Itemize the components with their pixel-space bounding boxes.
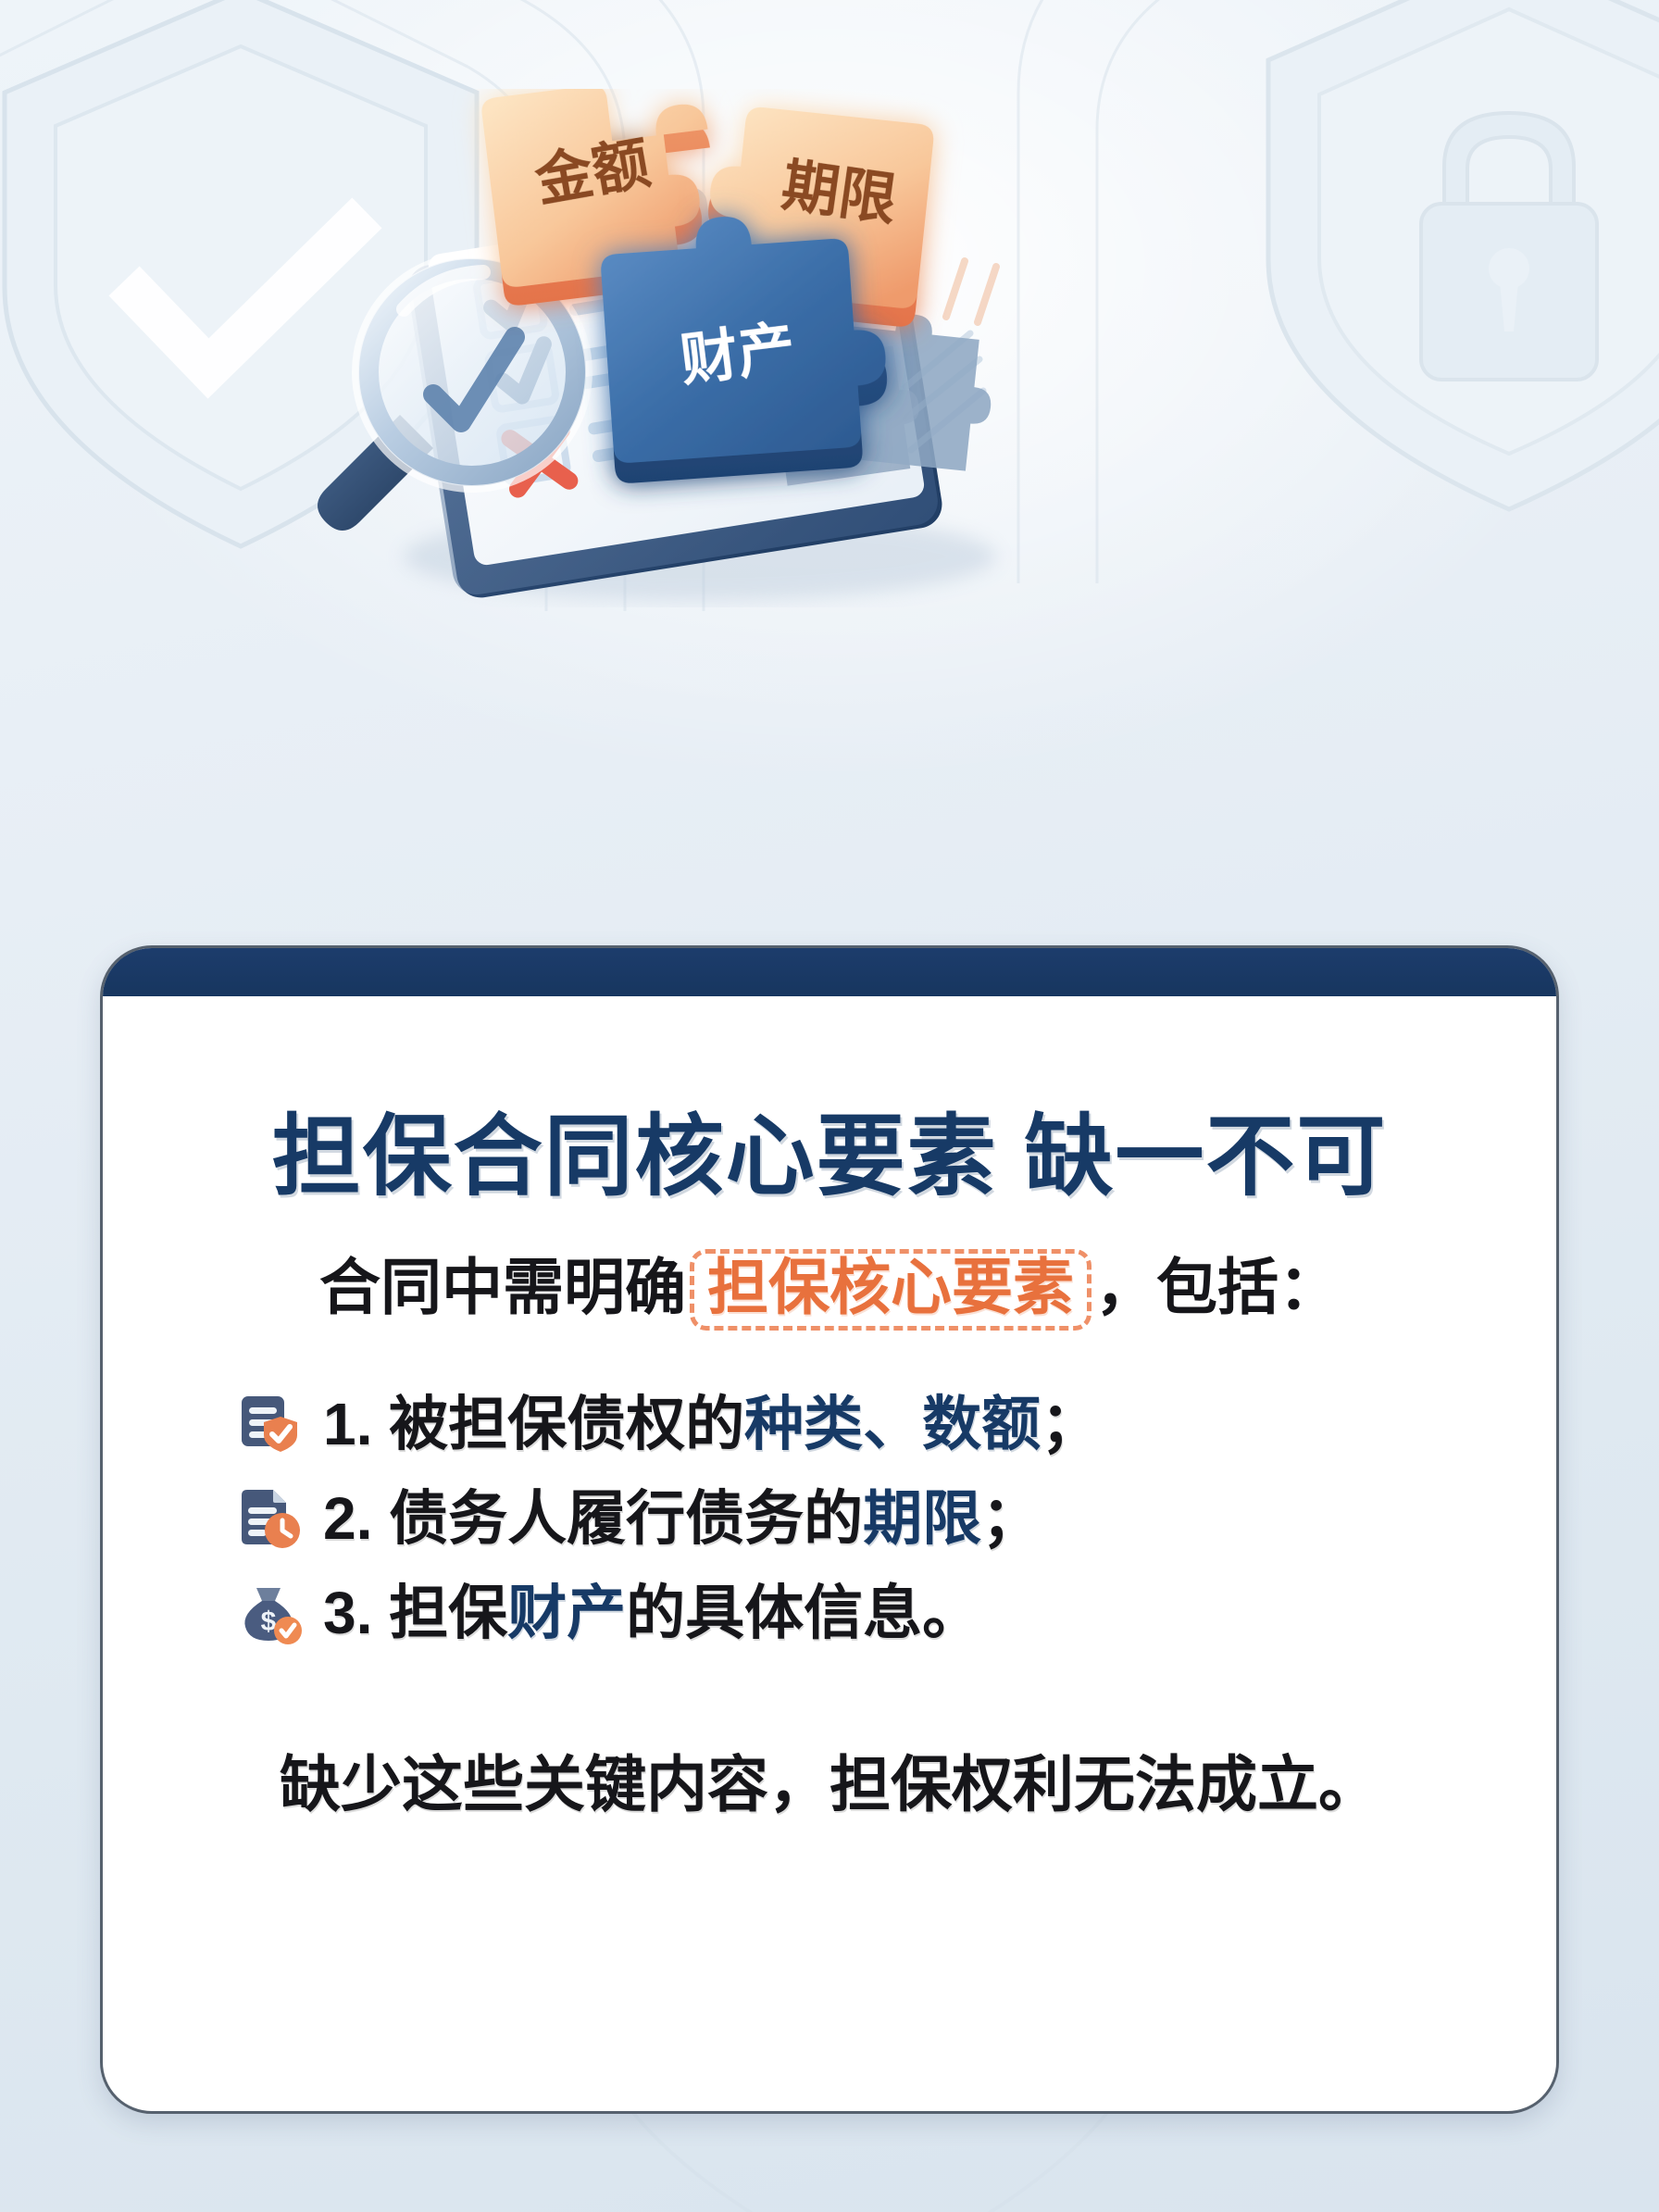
list-item-suffix: ；	[1041, 1391, 1100, 1457]
document-clock-icon	[236, 1485, 303, 1552]
list-item-number: 1.	[323, 1391, 372, 1457]
contract-review-illustration: 金额 期限 财产	[218, 89, 1200, 607]
shield-lock-icon	[1421, 113, 1597, 380]
list-item-prefix: 被担保债权的	[389, 1391, 744, 1457]
list-item-key: 财产	[507, 1580, 626, 1646]
list-item-key: 种类、数额	[744, 1391, 1041, 1457]
list-item: $ 3. 担保财产的具体信息。	[236, 1577, 1499, 1649]
money-bag-check-icon: $	[236, 1581, 303, 1647]
list-item-prefix: 担保	[389, 1580, 507, 1646]
requirement-list: 1. 被担保债权的种类、数额；	[160, 1388, 1499, 1649]
list-item-key: 期限	[863, 1485, 981, 1552]
document-shield-check-icon	[236, 1391, 303, 1457]
page-title: 担保合同核心要素 缺一不可	[160, 1106, 1499, 1208]
list-item-number: 3.	[323, 1580, 372, 1646]
list-item-prefix: 债务人履行债务的	[389, 1485, 863, 1552]
shield-lock-watermark	[1231, 0, 1659, 546]
card-body: 担保合同核心要素 缺一不可 合同中需明确担保核心要素，包括：	[103, 996, 1556, 2111]
content-card: 担保合同核心要素 缺一不可 合同中需明确担保核心要素，包括：	[100, 945, 1559, 2114]
list-item-text: 1. 被担保债权的种类、数额；	[323, 1388, 1100, 1460]
lead-highlight: 担保核心要素	[690, 1249, 1091, 1331]
lead-prefix: 合同中需明确	[319, 1253, 686, 1321]
closing-line: 缺少这些关键内容，担保权利无法成立。	[160, 1746, 1499, 1823]
lead-suffix: ，包括：	[1095, 1253, 1340, 1321]
poster-canvas: 金额 期限 财产 担保合同核心要素 缺一不可 合同中需明确担保核心要素，包括：	[0, 0, 1659, 2212]
svg-text:$: $	[261, 1606, 277, 1637]
list-item-suffix: 的具体信息。	[626, 1580, 981, 1646]
list-item: 2. 债务人履行债务的期限；	[236, 1482, 1499, 1555]
list-item: 1. 被担保债权的种类、数额；	[236, 1388, 1499, 1460]
card-top-bar	[100, 945, 1559, 996]
list-item-text: 3. 担保财产的具体信息。	[323, 1577, 981, 1649]
list-item-number: 2.	[323, 1485, 372, 1552]
lead-line: 合同中需明确担保核心要素，包括：	[160, 1249, 1499, 1331]
list-item-suffix: ；	[981, 1485, 1041, 1552]
list-item-text: 2. 债务人履行债务的期限；	[323, 1482, 1041, 1555]
